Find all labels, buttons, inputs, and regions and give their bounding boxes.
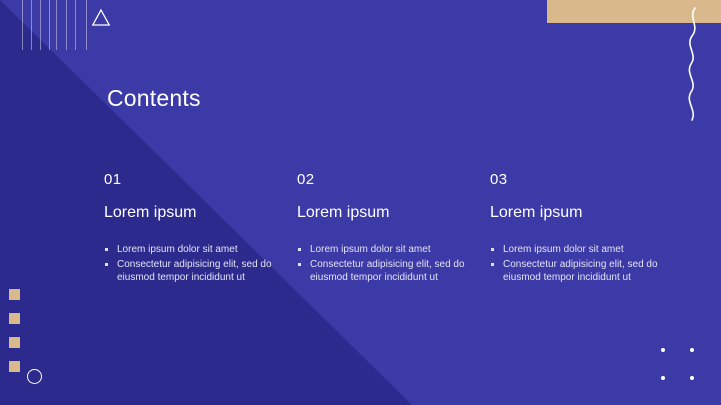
content-column-01: 01Lorem ipsumLorem ipsum dolor sit ametC… <box>104 172 297 286</box>
bullet-item: Consectetur adipisicing elit, sed do eiu… <box>297 258 476 285</box>
vertical-line-1 <box>22 0 23 50</box>
contents-columns: 01Lorem ipsumLorem ipsum dolor sit ametC… <box>104 172 684 286</box>
bullet-item: Consectetur adipisicing elit, sed do eiu… <box>490 258 669 285</box>
column-bullet-list: Lorem ipsum dolor sit ametConsectetur ad… <box>297 243 476 285</box>
vertical-line-3 <box>40 0 41 50</box>
page-title: Contents <box>107 85 201 112</box>
contents-slide: Contents 01Lorem ipsumLorem ipsum dolor … <box>0 0 721 405</box>
corner-dot-3 <box>661 376 665 380</box>
tan-square-2 <box>9 313 20 324</box>
vertical-line-7 <box>75 0 76 50</box>
column-number: 03 <box>490 172 669 187</box>
column-heading: Lorem ipsum <box>297 205 476 221</box>
tan-square-3 <box>9 337 20 348</box>
tan-square-1 <box>9 289 20 300</box>
vertical-lines-icon <box>22 0 88 50</box>
column-number: 01 <box>104 172 283 187</box>
vertical-line-6 <box>66 0 67 50</box>
tan-square-4 <box>9 361 20 372</box>
wavy-line-icon <box>680 6 706 122</box>
triangle-outline-icon <box>91 8 111 27</box>
bullet-item: Lorem ipsum dolor sit amet <box>297 243 476 257</box>
column-bullet-list: Lorem ipsum dolor sit ametConsectetur ad… <box>490 243 669 285</box>
corner-dot-2 <box>690 348 694 352</box>
vertical-line-5 <box>56 0 57 50</box>
column-bullet-list: Lorem ipsum dolor sit ametConsectetur ad… <box>104 243 283 285</box>
vertical-line-2 <box>31 0 32 50</box>
column-heading: Lorem ipsum <box>104 205 283 221</box>
circle-outline-icon <box>27 369 42 384</box>
bullet-item: Consectetur adipisicing elit, sed do eiu… <box>104 258 283 285</box>
column-number: 02 <box>297 172 476 187</box>
corner-dot-1 <box>661 348 665 352</box>
corner-dot-4 <box>690 376 694 380</box>
content-column-02: 02Lorem ipsumLorem ipsum dolor sit ametC… <box>297 172 490 286</box>
vertical-line-4 <box>49 0 50 50</box>
bullet-item: Lorem ipsum dolor sit amet <box>490 243 669 257</box>
content-column-03: 03Lorem ipsumLorem ipsum dolor sit ametC… <box>490 172 683 286</box>
column-heading: Lorem ipsum <box>490 205 669 221</box>
vertical-line-8 <box>86 0 87 50</box>
bullet-item: Lorem ipsum dolor sit amet <box>104 243 283 257</box>
